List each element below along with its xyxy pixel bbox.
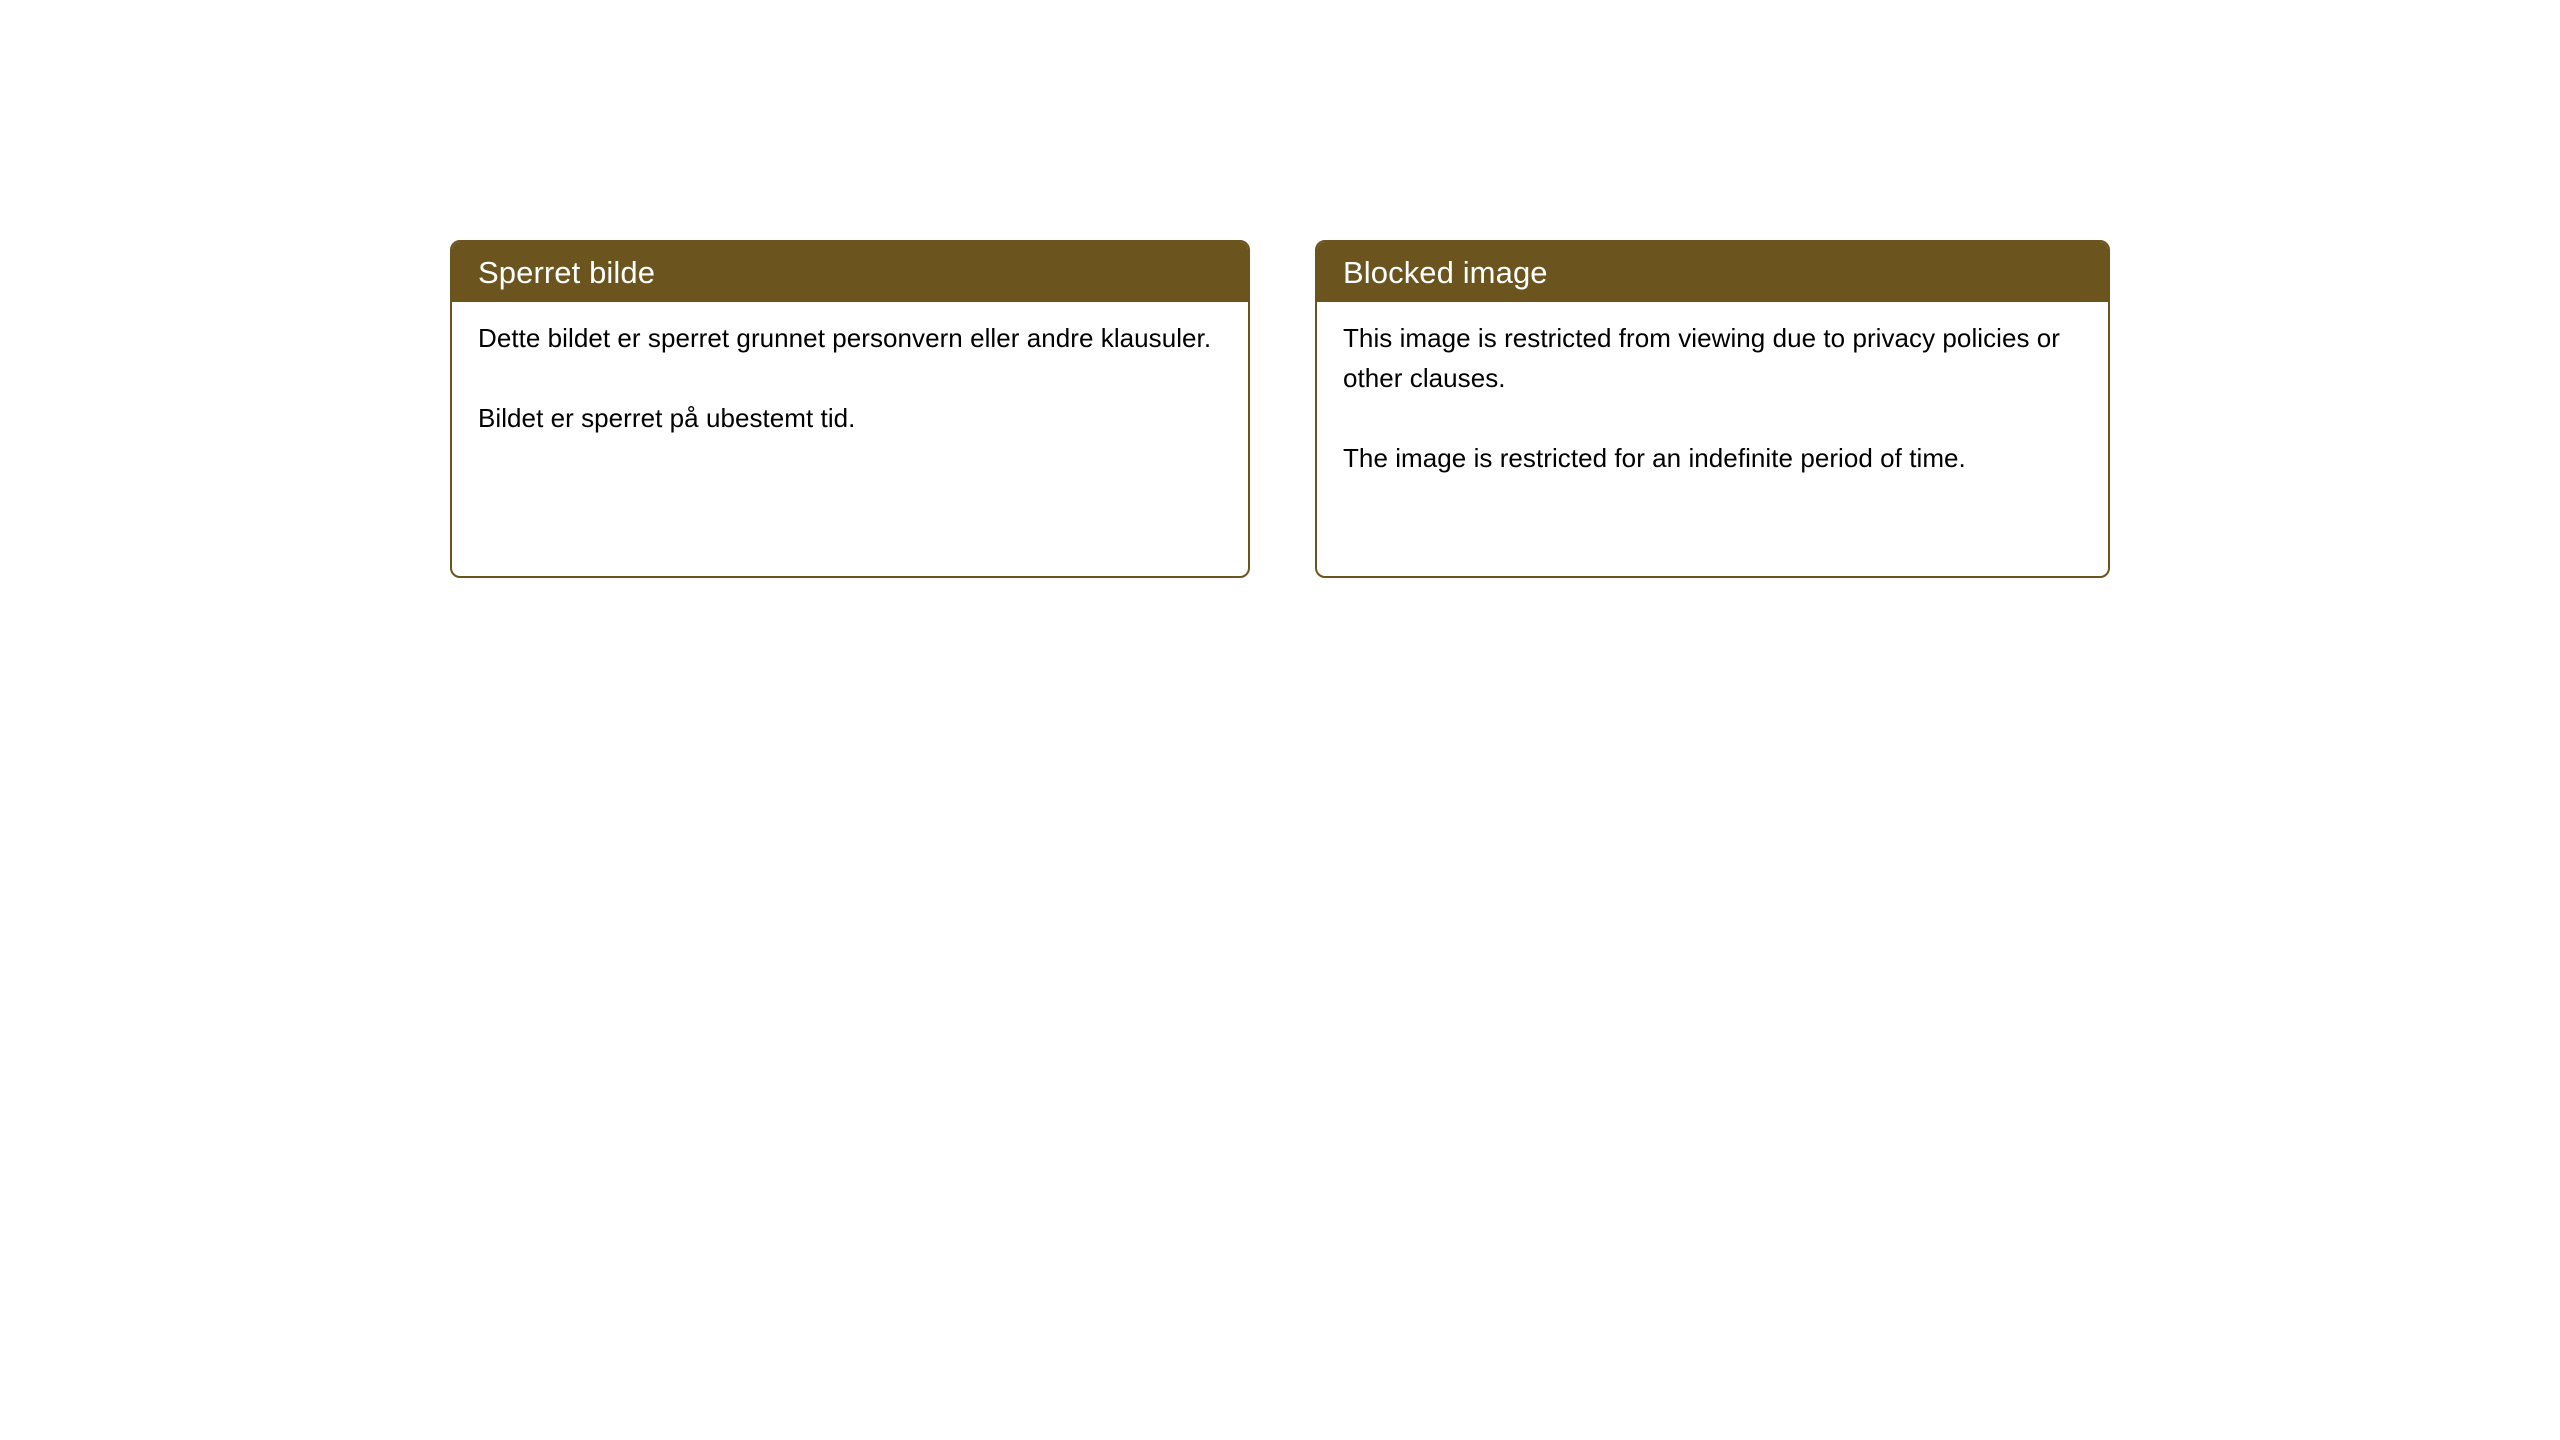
- card-body-english: This image is restricted from viewing du…: [1317, 302, 2108, 478]
- card-title-english: Blocked image: [1343, 257, 1548, 288]
- card-paragraph-duration-english: The image is restricted for an indefinit…: [1343, 438, 2082, 478]
- card-paragraph-reason-norwegian: Dette bildet er sperret grunnet personve…: [478, 318, 1222, 358]
- card-title-norwegian: Sperret bilde: [478, 257, 655, 288]
- card-body-norwegian: Dette bildet er sperret grunnet personve…: [452, 302, 1248, 438]
- card-paragraph-duration-norwegian: Bildet er sperret på ubestemt tid.: [478, 398, 1222, 438]
- card-header-norwegian: Sperret bilde: [452, 242, 1248, 302]
- blocked-image-notice-card-norwegian: Sperret bilde Dette bildet er sperret gr…: [450, 240, 1250, 578]
- page-canvas: Sperret bilde Dette bildet er sperret gr…: [0, 0, 2560, 1440]
- card-paragraph-reason-english: This image is restricted from viewing du…: [1343, 318, 2082, 398]
- card-header-english: Blocked image: [1317, 242, 2108, 302]
- blocked-image-notice-card-english: Blocked image This image is restricted f…: [1315, 240, 2110, 578]
